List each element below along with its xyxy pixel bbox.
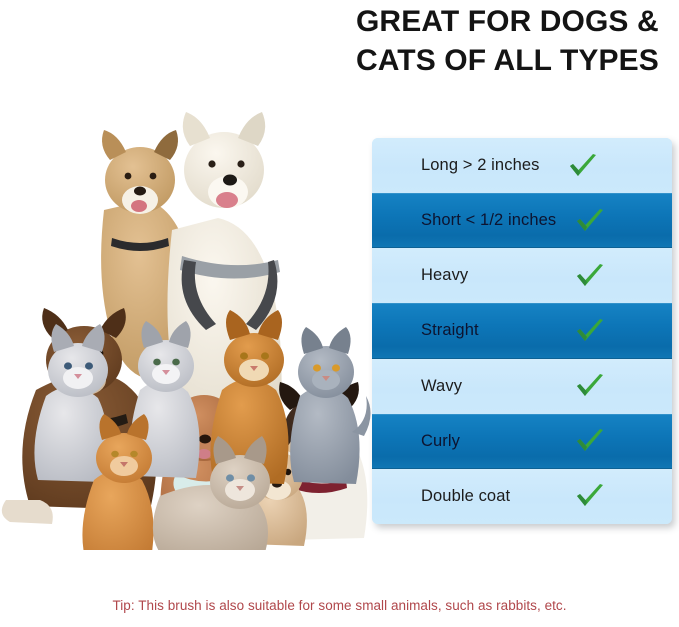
coat-type-label: Short < 1/2 inches [421,211,556,230]
coat-type-label: Curly [421,432,460,451]
check-icon [575,483,605,509]
coat-type-row: Heavy [372,248,672,303]
coat-type-row: Curly [372,414,672,469]
coat-type-panel: Long > 2 inchesShort < 1/2 inchesHeavySt… [372,138,672,524]
page-title: GREAT FOR DOGS & CATS OF ALL TYPES [356,2,676,80]
check-icon [575,428,605,454]
check-icon [575,263,605,289]
coat-type-row: Double coat [372,469,672,524]
headline-line-1: GREAT FOR DOGS & [356,2,676,41]
coat-type-label: Double coat [421,487,510,506]
check-icon [568,153,598,179]
check-icon [575,208,605,234]
pets-group-photo [0,60,372,550]
product-infographic: GREAT FOR DOGS & CATS OF ALL TYPES [0,0,679,627]
coat-type-label: Heavy [421,266,468,285]
coat-type-row: Short < 1/2 inches [372,193,672,248]
coat-type-row: Wavy [372,359,672,414]
coat-type-row: Long > 2 inches [372,138,672,193]
headline-line-2: CATS OF ALL TYPES [356,41,676,80]
coat-type-label: Wavy [421,377,462,396]
blue-british-shorthair-cat [290,327,370,484]
check-icon [575,373,605,399]
coat-type-label: Straight [421,321,479,340]
coat-type-row: Straight [372,303,672,358]
coat-type-label: Long > 2 inches [421,156,539,175]
tip-note: Tip: This brush is also suitable for som… [0,598,679,613]
check-icon [575,318,605,344]
